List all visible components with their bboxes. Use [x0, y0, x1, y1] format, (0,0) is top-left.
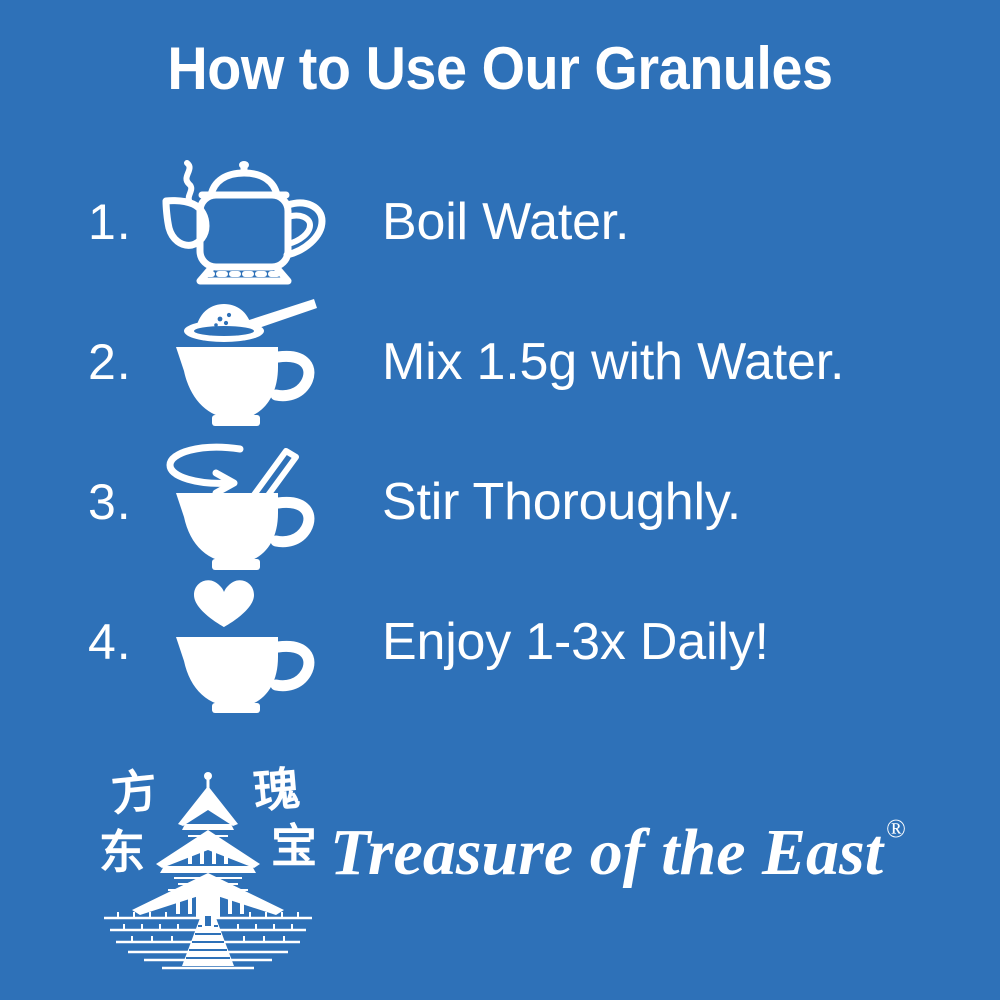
poster-canvas: How to Use Our Granules 1. — [0, 0, 1000, 1000]
registered-trademark-icon: ® — [886, 816, 906, 842]
brand-name: Treasure of the East — [330, 814, 883, 892]
list-item-step-2: 2. — [0, 292, 1000, 432]
logo-character-top-left: 方 — [109, 763, 160, 822]
logo-character-left: 东 — [99, 825, 145, 879]
logo-character-top-right: 瑰 — [251, 761, 302, 819]
brand-name-wrapper: Treasure of the East ® — [330, 814, 906, 904]
list-item-step-3: 3. — [0, 432, 1000, 572]
instruction-steps-list: 1. — [0, 152, 1000, 712]
step-text-2: Mix 1.5g with Water. — [382, 336, 844, 388]
step-text-1: Boil Water. — [382, 196, 629, 248]
teapot-icon — [154, 155, 334, 290]
page-title: How to Use Our Granules — [35, 30, 965, 108]
temple-of-heaven-logo: 方 瑰 东 宝 — [88, 750, 328, 978]
step-text-4: Enjoy 1-3x Daily! — [382, 616, 769, 668]
cup-with-spoon-of-granules-icon — [154, 295, 334, 430]
brand-block: 方 瑰 东 宝 — [0, 742, 1000, 992]
cup-with-heart-icon — [154, 575, 334, 710]
logo-character-right: 宝 — [271, 819, 317, 873]
list-item-step-1: 1. — [0, 152, 1000, 292]
list-item-step-4: 4. Enjoy 1-3x Daily! — [0, 572, 1000, 712]
cup-with-stirring-spoon-icon — [154, 435, 334, 570]
step-text-3: Stir Thoroughly. — [382, 476, 741, 528]
